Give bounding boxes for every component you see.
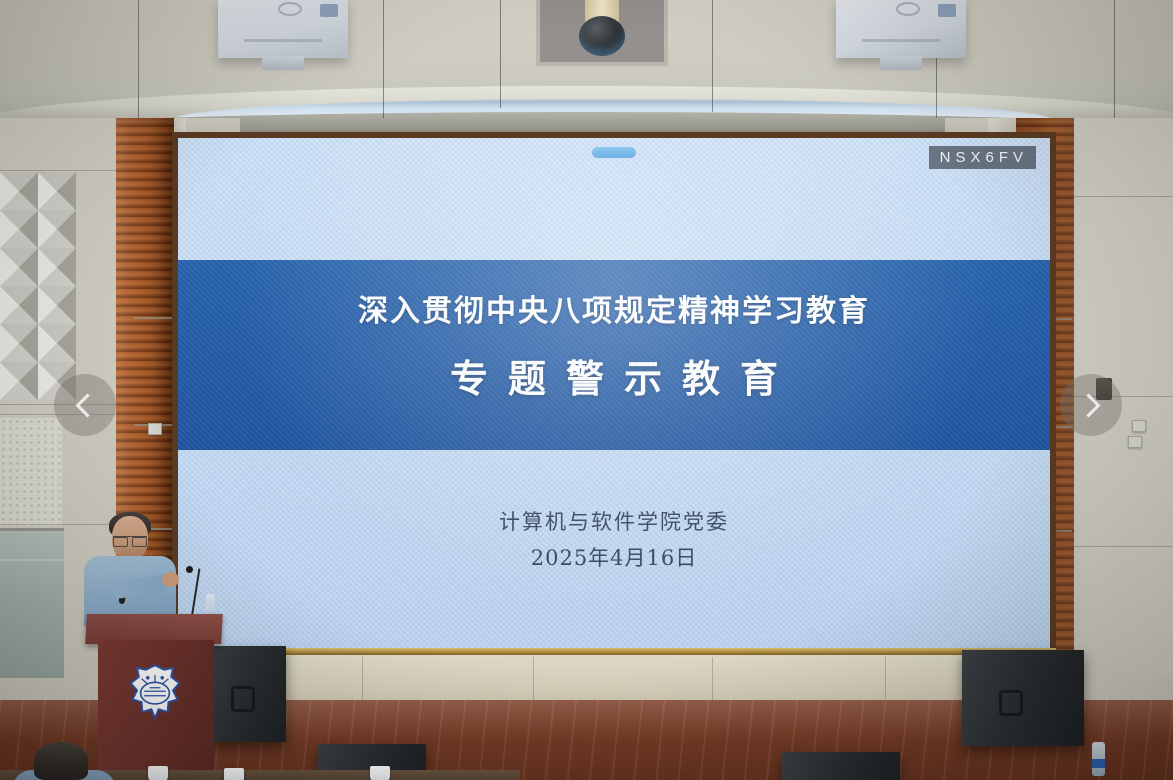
slide-title-line2: 专题警示教育 xyxy=(178,348,1050,403)
previous-photo-button[interactable] xyxy=(54,374,116,436)
water-bottle xyxy=(1092,742,1105,776)
slide-title-band: 深入贯彻中央八项规定精神学习教育 专题警示教育 xyxy=(178,260,1050,450)
stage-speaker-box xyxy=(208,646,286,742)
projection-screen[interactable]: NSX6FV 深入贯彻中央八项规定精神学习教育 专题警示教育 计算机与软件学院党… xyxy=(178,138,1050,648)
perforated-acoustic-panel xyxy=(0,418,62,526)
side-glass-door xyxy=(0,528,64,678)
university-emblem xyxy=(128,664,182,724)
ceiling-projector-right xyxy=(836,0,966,58)
paper-cup xyxy=(224,768,244,780)
projector-label-strip xyxy=(862,39,940,42)
chevron-right-icon xyxy=(1076,393,1100,417)
presenter-glasses-icon xyxy=(113,536,147,545)
slide-title-line1: 深入贯彻中央八项规定精神学习教育 xyxy=(178,286,1050,330)
wall-seam xyxy=(1074,546,1173,547)
projector-panel-icon xyxy=(320,4,338,17)
projector-lens-icon xyxy=(896,2,920,16)
stage-monitor-speaker xyxy=(782,752,900,780)
paper-cup xyxy=(370,766,390,780)
suspension-wire xyxy=(1114,0,1115,118)
speaker-handle-icon xyxy=(999,690,1023,716)
suspension-wire xyxy=(383,0,384,118)
screen-osd-code: NSX6FV xyxy=(929,146,1036,169)
microphone-head-icon xyxy=(186,566,193,573)
suspension-wire xyxy=(712,0,713,112)
projector-panel-icon xyxy=(938,4,956,17)
suspension-wire xyxy=(500,0,501,108)
dome-camera-icon xyxy=(579,16,625,56)
chevron-left-icon xyxy=(75,393,99,417)
projector-lens-icon xyxy=(278,2,302,16)
next-photo-button[interactable] xyxy=(1060,374,1122,436)
wall-sensor-left xyxy=(148,423,162,435)
projector-label-strip xyxy=(244,39,322,42)
screen-status-pill xyxy=(592,147,636,158)
screen-gold-trim xyxy=(172,648,1056,655)
paper-cup xyxy=(148,766,168,780)
photo-scene: NSX6FV 深入贯彻中央八项规定精神学习教育 专题警示教育 计算机与软件学院党… xyxy=(0,0,1173,780)
ceiling-projector-left xyxy=(218,0,348,58)
slide-date: 2025年4月16日 xyxy=(178,542,1050,572)
slide-subtitle: 计算机与软件学院党委 xyxy=(178,506,1050,536)
wall-sensor-right xyxy=(1132,420,1146,432)
presenter-hand xyxy=(162,572,179,587)
wall-seam xyxy=(0,170,118,171)
audience-member-head xyxy=(34,742,88,780)
speaker-handle-icon xyxy=(231,686,255,712)
stage-speaker-box xyxy=(962,650,1084,746)
presenter xyxy=(82,516,178,626)
wall-seam xyxy=(1074,196,1173,197)
ceiling-camera-housing xyxy=(536,0,668,66)
suspension-wire xyxy=(138,0,139,118)
wall-bracket-right xyxy=(1128,436,1142,448)
geometric-acoustic-panel-overlay xyxy=(0,172,76,400)
